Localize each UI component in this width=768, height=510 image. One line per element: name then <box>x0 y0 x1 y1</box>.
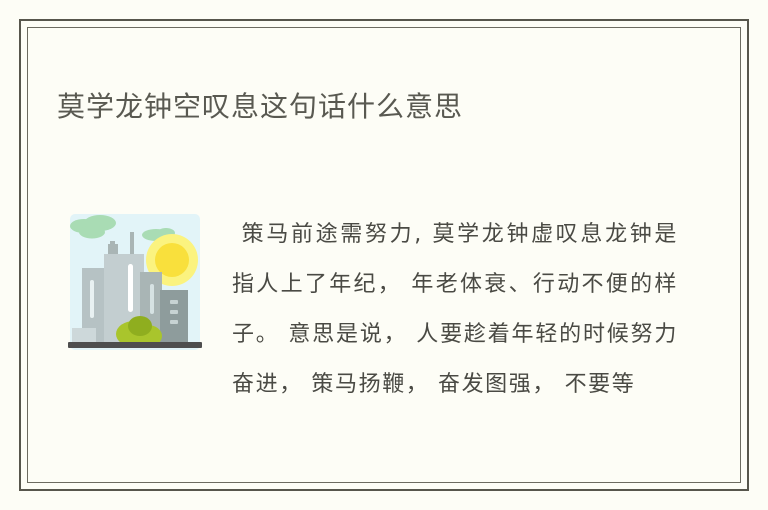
article-body: 策马前途需努力, 莫学龙钟虚叹息龙钟是指人上了年纪， 年老体衰、行动不便的样子。… <box>232 210 678 410</box>
window-dots <box>170 300 178 324</box>
page-title: 莫学龙钟空叹息这句话什么意思 <box>57 87 463 127</box>
cityscape-icon <box>62 210 208 356</box>
page-root: 莫学龙钟空叹息这句话什么意思 <box>0 0 768 510</box>
cityscape-illustration <box>62 210 208 356</box>
